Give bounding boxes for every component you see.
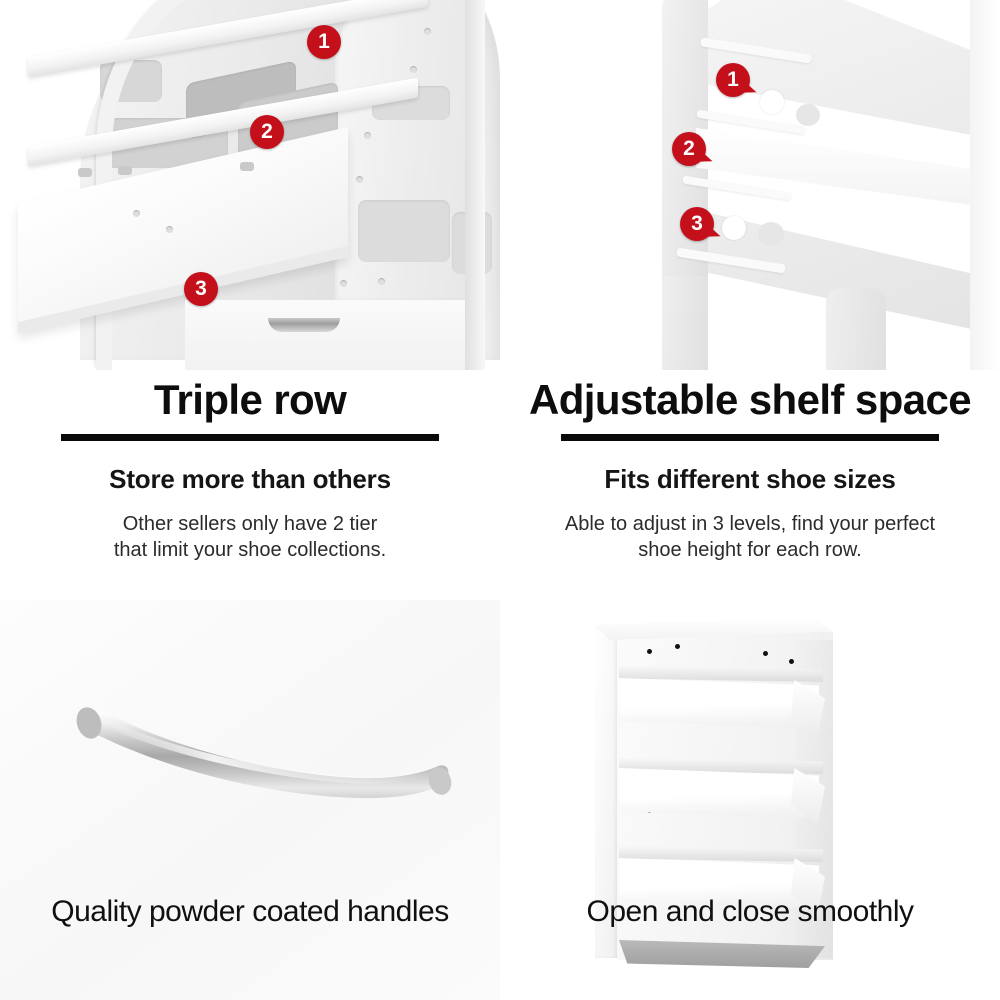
- drawer-front: [185, 300, 485, 370]
- bracket-leg-right: [826, 288, 886, 370]
- description-adjustable-shelf: Able to adjust in 3 levels, find your pe…: [500, 511, 1000, 564]
- tr-stage: 1 2 3: [500, 0, 1000, 370]
- headline-adjustable-shelf: Adjustable shelf space: [500, 376, 1000, 424]
- adjust-hole-ghost: [796, 104, 820, 126]
- text-block-adjustable-shelf: Adjustable shelf space Fits different sh…: [500, 376, 1000, 564]
- cabinet-screw: [647, 649, 652, 654]
- bracket-backdrop-shade: [970, 0, 1000, 370]
- panel-cabinet: Open and close smoothly: [500, 600, 1000, 1000]
- description-line-2: that limit your shoe collections.: [0, 537, 500, 563]
- subheading-fits-sizes: Fits different shoe sizes: [500, 464, 1000, 495]
- callout-badge-3: 3: [184, 272, 218, 306]
- shelf-screw: [133, 210, 140, 217]
- shelf-screw: [166, 226, 173, 233]
- shelf-clip: [118, 166, 132, 175]
- text-block-triple-row: Triple row Store more than others Other …: [0, 376, 500, 564]
- bracket-leg-left: [662, 276, 708, 370]
- panel-screw: [378, 278, 385, 285]
- panel-screw: [356, 176, 363, 183]
- callout-badge-1: 1: [307, 25, 341, 59]
- description-line-1: Other sellers only have 2 tier: [0, 511, 500, 537]
- panel-screw: [340, 280, 347, 287]
- caption-cabinet: Open and close smoothly: [500, 895, 1000, 929]
- caption-handle: Quality powder coated handles: [0, 895, 500, 929]
- photo-shelf-bracket: 1 2 3: [500, 0, 1000, 370]
- cabinet-screw: [763, 651, 768, 656]
- panel-screw: [410, 66, 417, 73]
- panel-screw: [424, 28, 431, 35]
- subheading-store-more: Store more than others: [0, 464, 500, 495]
- callout-badge-1: 1: [716, 63, 750, 97]
- photo-drawer-interior: 1 2 3: [0, 0, 500, 370]
- callout-badge-3: 3: [680, 207, 714, 241]
- adjust-hole-ghost: [758, 222, 784, 246]
- photo-drawer-handle: [40, 685, 465, 825]
- callout-badge-2: 2: [250, 115, 284, 149]
- description-line-2: shoe height for each row.: [500, 537, 1000, 563]
- adjust-hole-level-1: [760, 90, 784, 114]
- cabinet-screw: [675, 644, 680, 649]
- panel-adjustable-shelf: 1 2 3 Adjustable shelf space Fits differ…: [500, 0, 1000, 600]
- feature-image-root: 1 2 3 Triple row Store more than others …: [0, 0, 1000, 1000]
- headline-triple-row: Triple row: [0, 376, 500, 424]
- panel-handle: Quality powder coated handles: [0, 600, 500, 1000]
- headline-divider: [61, 434, 439, 441]
- description-triple-row: Other sellers only have 2 tier that limi…: [0, 511, 500, 564]
- callout-badge-2: 2: [672, 132, 706, 166]
- description-line-1: Able to adjust in 3 levels, find your pe…: [500, 511, 1000, 537]
- shelf-clip: [240, 162, 254, 171]
- cabinet-screw: [789, 659, 794, 664]
- panel-triple-row: 1 2 3 Triple row Store more than others …: [0, 0, 500, 600]
- adjust-hole-level-3: [722, 216, 746, 240]
- drawer-handle: [268, 318, 340, 332]
- cabinet-shadow-edge: [465, 0, 485, 370]
- shelf-clip: [78, 168, 92, 177]
- handle-icon: [40, 685, 465, 825]
- panel-screw: [364, 132, 371, 139]
- tl-stage: 1 2 3: [0, 0, 500, 370]
- headline-divider: [561, 434, 939, 441]
